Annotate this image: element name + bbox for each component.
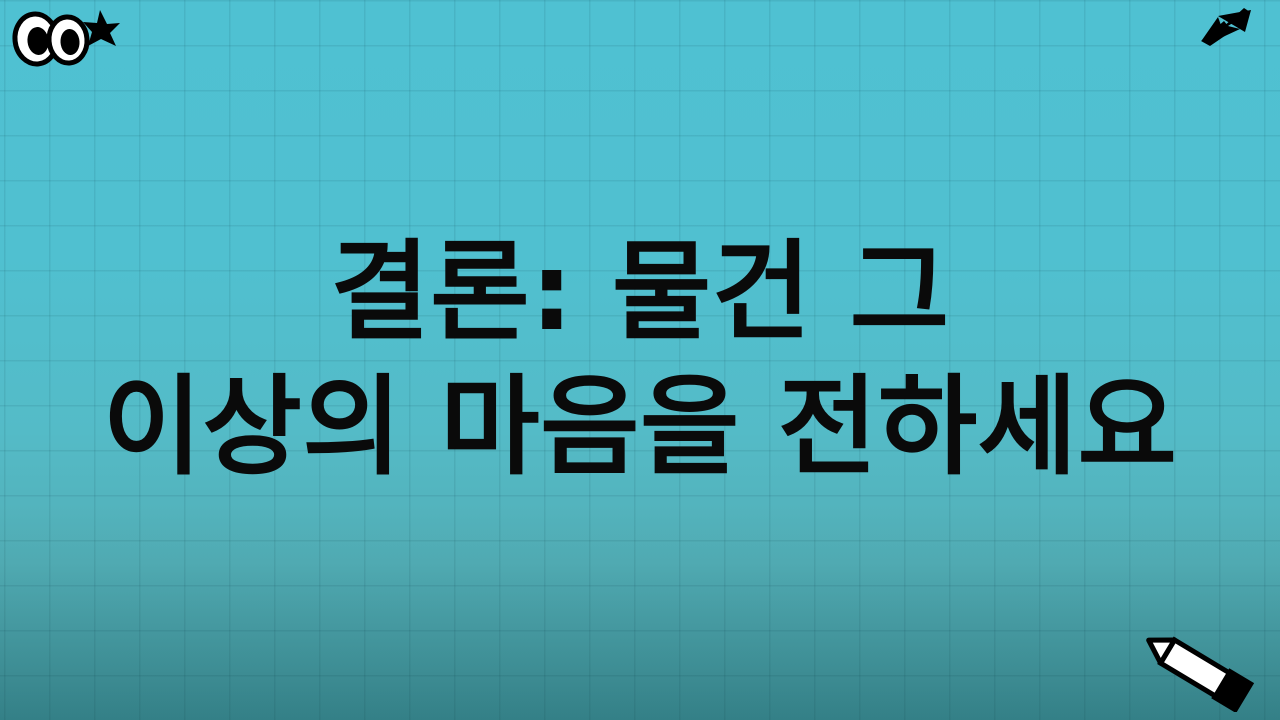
page-title: 결론: 물건 그 이상의 마음을 전하세요 — [0, 225, 1280, 495]
title-block: 결론: 물건 그 이상의 마음을 전하세요 — [0, 0, 1280, 720]
slide-canvas: 결론: 물건 그 이상의 마음을 전하세요 — [0, 0, 1280, 720]
